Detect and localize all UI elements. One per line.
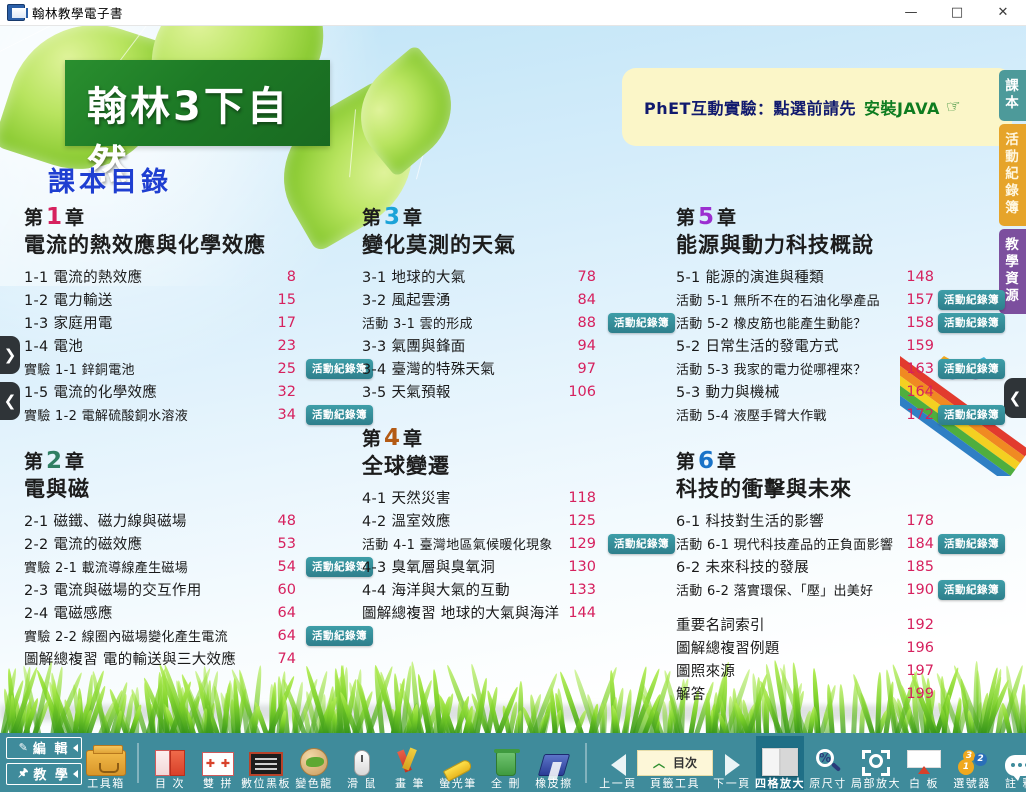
appendix-label: 解答 [676, 683, 706, 704]
chapter-prefix: 第 [24, 207, 44, 229]
activity-log-badge[interactable]: 活動紀錄簿 [938, 580, 1005, 600]
toolbar-button-目次[interactable]: 目 次 [146, 736, 194, 790]
chapter-number: 6 [696, 448, 717, 474]
toc-row[interactable]: 3-3 氣團與鋒面94 [362, 334, 672, 357]
side-tab-textbook[interactable]: 課本 [999, 70, 1026, 121]
toolbar-button-上一頁[interactable]: 上一頁 [594, 736, 642, 790]
toc-row[interactable]: 4-4 海洋與大氣的互動133 [362, 578, 672, 601]
appendix-page-number: 196 [900, 640, 934, 656]
toc-row-label: 3-2 風起雲湧 [362, 289, 451, 310]
toc-row[interactable]: 1-4 電池23 [24, 334, 354, 357]
toc-row-page-number: 94 [562, 338, 596, 354]
open-book-icon [762, 746, 798, 776]
toc-column-1: 第1章電流的熱效應與化學效應1-1 電流的熱效應81-2 電力輸送151-3 家… [24, 204, 354, 676]
toolbar-button-label: 原尺寸 [809, 778, 847, 790]
mouse-icon [354, 746, 370, 776]
chapter-prefix: 第 [362, 428, 382, 450]
toc-row-page-number: 159 [900, 338, 934, 354]
toc-row-page-number: 130 [562, 559, 596, 575]
chapter-suffix: 章 [717, 451, 737, 473]
toc-row-page-number: 84 [562, 292, 596, 308]
eraser-icon [541, 746, 567, 776]
window-controls: — □ ✕ [888, 0, 1026, 26]
chapter-prefix: 第 [676, 207, 696, 229]
toc-row[interactable]: 1-1 電流的熱效應8 [24, 265, 354, 288]
toc-row-label: 3-4 臺灣的特殊天氣 [362, 358, 495, 379]
highlighter-icon [444, 746, 472, 776]
window-title: 翰林教學電子書 [32, 3, 123, 22]
toc-row-page-number: 106 [562, 384, 596, 400]
book-page-canvas: 翰林3下自然 課本目錄 PhET互動實驗：點選前請先 安裝JAVA ☞ 課本 活… [0, 26, 1026, 733]
toc-row[interactable]: 3-1 地球的大氣78 [362, 265, 672, 288]
chapter-block: 第4章全球變遷4-1 天然災害1184-2 溫室效應125活動 4-1 臺灣地區… [362, 425, 672, 624]
chapter-gap [676, 426, 1006, 442]
toc-row-label: 1-1 電流的熱效應 [24, 266, 142, 287]
toc-row-page-number: 53 [262, 536, 296, 552]
chapter-suffix: 章 [403, 207, 423, 229]
toc-row-page-number: 118 [562, 490, 596, 506]
toolbar-button-label: 工具箱 [87, 778, 125, 790]
toc-row-page-number: 144 [562, 605, 596, 621]
toc-row[interactable]: 活動 6-2 落實環保、「壓」出美好190活動紀錄簿 [676, 578, 1006, 601]
book-title-plate: 翰林3下自然 [65, 60, 330, 146]
chapter-title: 科技的衝擊與未來 [676, 475, 1006, 503]
page-tool-pill[interactable]: ︿目次 [637, 750, 713, 776]
toc-row-label: 1-3 家庭用電 [24, 312, 113, 333]
toolbar-button-數位黑板[interactable]: 數位黑板 [242, 736, 290, 790]
toc-row-label: 5-3 動力與機械 [676, 381, 780, 402]
toc-row-label: 活動 6-2 落實環保、「壓」出美好 [676, 580, 873, 599]
toc-row[interactable]: 5-2 日常生活的發電方式159 [676, 334, 1006, 357]
appendix-label: 圖照來源 [676, 660, 735, 681]
chapter-prefix: 第 [24, 451, 44, 473]
toc-row-label: 實驗 1-1 鋅銅電池 [24, 359, 135, 378]
toolbar-button-label: 螢光筆 [439, 778, 477, 790]
appendix-label: 重要名詞索引 [676, 614, 765, 635]
teach-mode-button[interactable]: 🖈 教 學 [6, 763, 82, 785]
chapter-number: 5 [696, 204, 717, 230]
chapter-title: 能源與動力科技概說 [676, 231, 1006, 259]
toc-row[interactable]: 2-3 電流與磁場的交互作用60 [24, 578, 354, 601]
toc-row-page-number: 148 [900, 269, 934, 285]
toc-row-label: 實驗 2-1 載流導線產生磁場 [24, 557, 188, 576]
toolbar-button-label: 局部放大 [851, 778, 901, 790]
chapter-row-list: 1-1 電流的熱效應81-2 電力輸送151-3 家庭用電171-4 電池23實… [24, 265, 354, 426]
toc-row-page-number: 17 [262, 315, 296, 331]
toc-row[interactable]: 活動 6-1 現代科技產品的正負面影響184活動紀錄簿 [676, 532, 1006, 555]
toc-row-label: 2-4 電磁感應 [24, 602, 113, 623]
phet-banner-text: PhET互動實驗：點選前請先 [644, 95, 856, 119]
bottom-toolbar: ✎ 編 輯 🖈 教 學 工具箱目 次✚✚雙 拼數位黑板變色龍滑 鼠畫 筆螢光筆全… [0, 733, 1026, 792]
toolbar-button-label: 上一頁 [599, 778, 637, 790]
activity-log-badge[interactable]: 活動紀錄簿 [938, 534, 1005, 554]
toc-row-page-number: 184 [900, 536, 934, 552]
toc-row-page-number: 158 [900, 315, 934, 331]
chapter-number: 4 [382, 425, 403, 451]
activity-log-badge[interactable]: 活動紀錄簿 [608, 534, 675, 554]
toc-row-label: 活動 5-2 橡皮筋也能產生動能？ [676, 313, 867, 332]
pointing-hand-icon: ☞ [944, 96, 962, 118]
toc-row-page-number: 54 [262, 559, 296, 575]
toc-row-page-number: 133 [562, 582, 596, 598]
number-picker-icon: 321 [955, 746, 989, 776]
arrow-left-icon [611, 746, 626, 776]
toc-row-label: 4-4 海洋與大氣的互動 [362, 579, 510, 600]
comment-icon [1005, 746, 1026, 776]
toc-row-page-number: 172 [900, 407, 934, 423]
edit-mode-label: 編 輯 [33, 738, 70, 757]
toolbar-button-選號器[interactable]: 321選號器 [948, 736, 996, 790]
activity-log-badge[interactable]: 活動紀錄簿 [938, 359, 1005, 379]
appendix-page-number: 199 [900, 686, 934, 702]
toolbar-separator [137, 743, 139, 783]
toc-row-label: 6-2 未來科技的發展 [676, 556, 809, 577]
chapter-block: 第3章變化莫測的天氣3-1 地球的大氣783-2 風起雲湧84活動 3-1 雲的… [362, 204, 672, 419]
chevron-up-icon: ︿ [653, 754, 665, 771]
toc-row-page-number: 74 [262, 651, 296, 667]
blackboard-icon [249, 746, 283, 776]
toc-row[interactable]: 6-1 科技對生活的影響178 [676, 509, 1006, 532]
chapter-title: 電流的熱效應與化學效應 [24, 231, 354, 259]
toc-row-label: 圖解總複習 電的輸送與三大效應 [24, 648, 236, 669]
toc-row-page-number: 163 [900, 361, 934, 377]
toc-row[interactable]: 活動 3-1 雲的形成88活動紀錄簿 [362, 311, 672, 334]
toc-row-page-number: 60 [262, 582, 296, 598]
toc-row[interactable]: 實驗 1-2 電解硫酸銅水溶液34活動紀錄簿 [24, 403, 354, 426]
toc-row-label: 3-3 氣團與鋒面 [362, 335, 466, 356]
toc-row[interactable]: 圖解總複習 電的輸送與三大效應74 [24, 647, 354, 670]
toolbox-icon [86, 746, 126, 776]
chapter-row-list: 4-1 天然災害1184-2 溫室效應125活動 4-1 臺灣地區氣候暖化現象1… [362, 486, 672, 624]
toc-row[interactable]: 圖解總複習 地球的大氣與海洋144 [362, 601, 672, 624]
left-expand-handle[interactable]: ❯ [0, 336, 20, 374]
maximize-button[interactable]: □ [934, 0, 980, 26]
toolbar-button-下一頁[interactable]: 下一頁 [708, 736, 756, 790]
chapter-row-list: 2-1 磁鐵、磁力線與磁場482-2 電流的磁效應53實驗 2-1 載流導線產生… [24, 509, 354, 670]
toolbar-button-局部放大[interactable]: 局部放大 [852, 736, 900, 790]
toc-row-label: 4-1 天然災害 [362, 487, 451, 508]
arrow-right-icon [725, 746, 740, 776]
toolbar-button-label: 滑 鼠 [347, 778, 377, 790]
toc-row-page-number: 64 [262, 628, 296, 644]
toc-row[interactable]: 實驗 2-2 線圈內磁場變化產生電流64活動紀錄簿 [24, 624, 354, 647]
toc-row[interactable]: 實驗 1-1 鋅銅電池25活動紀錄簿 [24, 357, 354, 380]
toc-row-label: 活動 4-1 臺灣地區氣候暖化現象 [362, 534, 553, 553]
toc-row-label: 2-3 電流與磁場的交互作用 [24, 579, 202, 600]
chapter-number: 1 [44, 204, 65, 230]
table-of-contents-icon [155, 746, 185, 776]
appendix-label: 圖解總複習例題 [676, 637, 780, 658]
appendix-row[interactable]: 圖解總複習例題196 [676, 636, 1006, 659]
chapter-heading: 第3章 [362, 204, 672, 231]
toc-row-label: 活動 5-4 液壓手臂大作戰 [676, 405, 827, 424]
toc-row-label: 5-1 能源的演進與種類 [676, 266, 824, 287]
teach-mode-label: 教 學 [33, 764, 70, 783]
toc-row[interactable]: 3-2 風起雲湧84 [362, 288, 672, 311]
phet-banner[interactable]: PhET互動實驗：點選前請先 安裝JAVA ☞ [622, 68, 1012, 146]
toc-row-page-number: 178 [900, 513, 934, 529]
toolbar-button-label: 全 刪 [491, 778, 521, 790]
toc-row-page-number: 129 [562, 536, 596, 552]
toc-row-page-number: 48 [262, 513, 296, 529]
toc-row-page-number: 23 [262, 338, 296, 354]
toc-row[interactable]: 2-2 電流的磁效應53 [24, 532, 354, 555]
toc-row-page-number: 185 [900, 559, 934, 575]
toc-row-page-number: 97 [562, 361, 596, 377]
chapter-row-list: 5-1 能源的演進與種類148活動 5-1 無所不在的石油化學產品157活動紀錄… [676, 265, 1006, 426]
toolbar-button-label: 頁籤工具 [650, 778, 700, 790]
toc-row[interactable]: 4-3 臭氧層與臭氧洞130 [362, 555, 672, 578]
toc-row-page-number: 164 [900, 384, 934, 400]
chapter-heading: 第4章 [362, 425, 672, 452]
toc-row-label: 實驗 1-2 電解硫酸銅水溶液 [24, 405, 188, 424]
toc-row[interactable]: 2-4 電磁感應64 [24, 601, 354, 624]
toolbar-button-頁籤工具[interactable]: ︿目次頁籤工具 [642, 736, 708, 790]
activity-log-badge[interactable]: 活動紀錄簿 [608, 313, 675, 333]
toc-row-label: 實驗 2-2 線圈內磁場變化產生電流 [24, 626, 228, 645]
edit-mode-button[interactable]: ✎ 編 輯 [6, 737, 82, 759]
toc-column-2: 第3章變化莫測的天氣3-1 地球的大氣783-2 風起雲湧84活動 3-1 雲的… [362, 204, 672, 630]
toolbar-button-label: 白 板 [909, 778, 939, 790]
toolbar-separator [585, 743, 587, 783]
appendix-row[interactable]: 重要名詞索引192 [676, 613, 1006, 636]
dual-page-icon: ✚✚ [202, 746, 234, 776]
toc-row-page-number: 34 [262, 407, 296, 423]
toc-row-label: 活動 6-1 現代科技產品的正負面影響 [676, 534, 893, 553]
toc-row-label: 3-5 天氣預報 [362, 381, 451, 402]
toc-row-label: 活動 3-1 雲的形成 [362, 313, 473, 332]
mode-button-group: ✎ 編 輯 🖈 教 學 [0, 737, 82, 789]
toc-column-3: 第5章能源與動力科技概說5-1 能源的演進與種類148活動 5-1 無所不在的石… [676, 204, 1006, 705]
left-collapse-handle[interactable]: ❮ [0, 382, 20, 420]
install-java-link[interactable]: 安裝JAVA [864, 95, 940, 119]
magnifier-percent-icon: % [814, 746, 842, 776]
toc-row-label: 1-2 電力輸送 [24, 289, 113, 310]
toolbar-button-工具箱[interactable]: 工具箱 [82, 736, 130, 790]
toolbar-button-雙拼[interactable]: ✚✚雙 拼 [194, 736, 242, 790]
toc-row-page-number: 64 [262, 605, 296, 621]
toc-row-page-number: 88 [562, 315, 596, 331]
chapter-suffix: 章 [65, 207, 85, 229]
toolbar-button-label: 選號器 [953, 778, 991, 790]
appendix-page-number: 197 [900, 663, 934, 679]
toc-row-page-number: 15 [262, 292, 296, 308]
toc-row[interactable]: 1-3 家庭用電17 [24, 311, 354, 334]
chapter-heading: 第1章 [24, 204, 354, 231]
chapter-gap [24, 426, 354, 442]
toc-row[interactable]: 1-5 電流的化學效應32 [24, 380, 354, 403]
chapter-block: 第2章電與磁2-1 磁鐵、磁力線與磁場482-2 電流的磁效應53實驗 2-1 … [24, 448, 354, 670]
minimize-button[interactable]: — [888, 0, 934, 26]
toolbar-button-畫筆[interactable]: 畫 筆 [386, 736, 434, 790]
page-tool-pill-label: 目次 [673, 754, 697, 771]
toolbar-items: 工具箱目 次✚✚雙 拼數位黑板變色龍滑 鼠畫 筆螢光筆全 刪橡皮擦上一頁︿目次頁… [82, 736, 1026, 790]
page-tool-icon: ︿目次 [637, 746, 713, 776]
chapter-row-list: 6-1 科技對生活的影響178活動 6-1 現代科技產品的正負面影響184活動紀… [676, 509, 1006, 601]
toc-row-label: 2-1 磁鐵、磁力線與磁場 [24, 510, 187, 531]
toc-row[interactable]: 6-2 未來科技的發展185 [676, 555, 1006, 578]
toolbar-button-label: 數位黑板 [241, 778, 291, 790]
toc-row[interactable]: 活動 5-2 橡皮筋也能產生動能？158活動紀錄簿 [676, 311, 1006, 334]
toolbar-button-螢光筆[interactable]: 螢光筆 [434, 736, 482, 790]
toc-row-label: 5-2 日常生活的發電方式 [676, 335, 839, 356]
toc-row[interactable]: 活動 5-4 液壓手臂大作戰172活動紀錄簿 [676, 403, 1006, 426]
toc-row-label: 6-1 科技對生活的影響 [676, 510, 824, 531]
toc-row[interactable]: 實驗 2-1 載流導線產生磁場54活動紀錄簿 [24, 555, 354, 578]
window-titlebar: 翰林教學電子書 — □ ✕ [0, 0, 1026, 26]
appendix-row[interactable]: 解答199 [676, 682, 1006, 705]
toc-row-label: 圖解總複習 地球的大氣與海洋 [362, 602, 559, 623]
toc-row[interactable]: 活動 5-1 無所不在的石油化學產品157活動紀錄簿 [676, 288, 1006, 311]
pen-icon [397, 746, 423, 776]
chapter-title: 全球變遷 [362, 452, 672, 480]
toolbar-button-label: 目 次 [155, 778, 185, 790]
toolbar-button-label: 下一頁 [713, 778, 751, 790]
close-button[interactable]: ✕ [980, 0, 1026, 26]
whiteboard-icon [907, 746, 941, 776]
toc-row[interactable]: 5-3 動力與機械164 [676, 380, 1006, 403]
toc-row-label: 1-5 電流的化學效應 [24, 381, 157, 402]
chapter-row-list: 3-1 地球的大氣783-2 風起雲湧84活動 3-1 雲的形成88活動紀錄簿3… [362, 265, 672, 403]
chapter-suffix: 章 [403, 428, 423, 450]
chapter-title: 電與磁 [24, 475, 354, 503]
toc-row-page-number: 125 [562, 513, 596, 529]
toolbar-button-變色龍[interactable]: 變色龍 [290, 736, 338, 790]
chapter-gap [362, 403, 672, 419]
toc-row-label: 1-4 電池 [24, 335, 83, 356]
toolbar-button-label: 雙 拼 [203, 778, 233, 790]
toolbar-button-全刪[interactable]: 全 刪 [482, 736, 530, 790]
leaf-decoration [339, 44, 473, 177]
chapter-prefix: 第 [362, 207, 382, 229]
toolbar-button-橡皮擦[interactable]: 橡皮擦 [530, 736, 578, 790]
toc-row[interactable]: 3-4 臺灣的特殊天氣97 [362, 357, 672, 380]
chapter-block: 第1章電流的熱效應與化學效應1-1 電流的熱效應81-2 電力輸送151-3 家… [24, 204, 354, 442]
chapter-title: 變化莫測的天氣 [362, 231, 672, 259]
trash-icon [496, 746, 516, 776]
toc-row-label: 活動 5-3 我家的電力從哪裡來？ [676, 359, 867, 378]
toolbar-button-原尺寸[interactable]: %原尺寸 [804, 736, 852, 790]
chapter-prefix: 第 [676, 451, 696, 473]
toc-row[interactable]: 4-2 溫室效應125 [362, 509, 672, 532]
toc-row[interactable]: 1-2 電力輸送15 [24, 288, 354, 311]
toc-row-page-number: 78 [562, 269, 596, 285]
toc-row[interactable]: 2-1 磁鐵、磁力線與磁場48 [24, 509, 354, 532]
appendix-page-number: 192 [900, 617, 934, 633]
toc-row[interactable]: 5-1 能源的演進與種類148 [676, 265, 1006, 288]
app-book-icon [7, 4, 25, 21]
chapter-suffix: 章 [65, 451, 85, 473]
chapter-suffix: 章 [717, 207, 737, 229]
activity-log-badge[interactable]: 活動紀錄簿 [938, 405, 1005, 425]
toolbar-button-label: 四格放大 [755, 778, 805, 790]
chapter-heading: 第2章 [24, 448, 354, 475]
crop-zoom-icon [862, 746, 890, 776]
chapter-heading: 第5章 [676, 204, 1006, 231]
toc-row-label: 3-1 地球的大氣 [362, 266, 466, 287]
toc-row-page-number: 157 [900, 292, 934, 308]
toc-row-label: 4-2 溫室效應 [362, 510, 451, 531]
toolbar-button-滑鼠[interactable]: 滑 鼠 [338, 736, 386, 790]
toc-row-label: 2-2 電流的磁效應 [24, 533, 142, 554]
chapter-heading: 第6章 [676, 448, 1006, 475]
toc-row-page-number: 8 [262, 269, 296, 285]
toc-row[interactable]: 4-1 天然災害118 [362, 486, 672, 509]
chapter-block: 第6章科技的衝擊與未來6-1 科技對生活的影響178活動 6-1 現代科技產品的… [676, 448, 1006, 601]
toc-row-label: 活動 5-1 無所不在的石油化學產品 [676, 290, 880, 309]
activity-log-badge[interactable]: 活動紀錄簿 [938, 290, 1005, 310]
chapter-number: 2 [44, 448, 65, 474]
toc-row-page-number: 190 [900, 582, 934, 598]
appendix-list: 重要名詞索引192圖解總複習例題196圖照來源197解答199 [676, 613, 1006, 705]
chapter-number: 3 [382, 204, 403, 230]
pointer-icon: 🖈 [18, 764, 30, 783]
chameleon-icon [300, 746, 328, 776]
toolbar-button-註釋[interactable]: 註 釋 [996, 736, 1026, 790]
page-subtitle: 課本目錄 [48, 160, 172, 199]
toc-row-label: 4-3 臭氧層與臭氧洞 [362, 556, 495, 577]
toc-row[interactable]: 活動 4-1 臺灣地區氣候暖化現象129活動紀錄簿 [362, 532, 672, 555]
toolbar-button-四格放大[interactable]: 四格放大 [756, 736, 804, 790]
toolbar-button-label: 變色龍 [295, 778, 333, 790]
toc-row-page-number: 25 [262, 361, 296, 377]
right-collapse-handle[interactable]: ❮ [1004, 378, 1026, 418]
activity-log-badge[interactable]: 活動紀錄簿 [938, 313, 1005, 333]
toc-row-page-number: 32 [262, 384, 296, 400]
toc-row[interactable]: 活動 5-3 我家的電力從哪裡來？163活動紀錄簿 [676, 357, 1006, 380]
toolbar-button-label: 畫 筆 [395, 778, 425, 790]
chapter-block: 第5章能源與動力科技概說5-1 能源的演進與種類148活動 5-1 無所不在的石… [676, 204, 1006, 442]
toolbar-button-白板[interactable]: 白 板 [900, 736, 948, 790]
appendix-row[interactable]: 圖照來源197 [676, 659, 1006, 682]
toc-row[interactable]: 3-5 天氣預報106 [362, 380, 672, 403]
pencil-icon: ✎ [19, 741, 30, 754]
